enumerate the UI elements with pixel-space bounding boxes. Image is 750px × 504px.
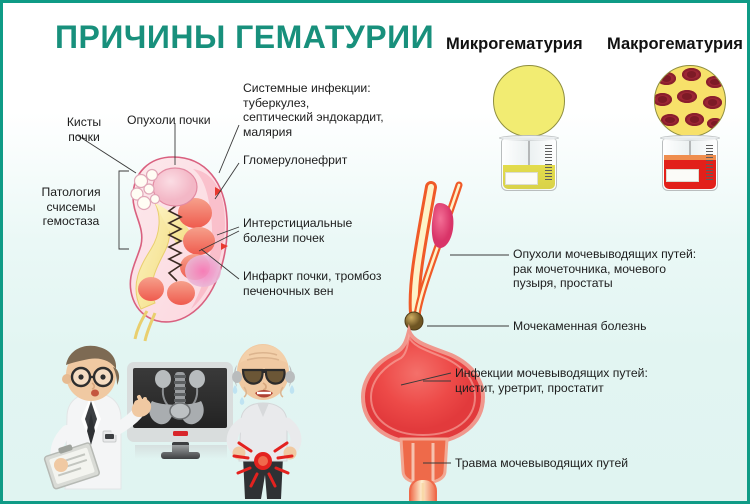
label-macrohematuria: Макрогематурия [607, 37, 743, 52]
urine-magnifier-bulb-micro [493, 65, 565, 137]
infographic-poster: ПРИЧИНЫ ГЕМАТУРИИ [0, 0, 750, 504]
beaker-scale-micro [545, 145, 552, 182]
label-urinary-tract-tumors: Опухоли мочевыводящих путей: рак мочеточ… [513, 247, 696, 291]
macrohematuria-sample [650, 65, 750, 200]
beaker-scale-macro [706, 145, 713, 182]
page-title: ПРИЧИНЫ ГЕМАТУРИИ [55, 19, 434, 56]
label-systemic-infections: Системные инфекции: туберкулез, септичес… [243, 81, 384, 139]
beaker-label-macro [666, 169, 699, 182]
microhematuria-sample [489, 65, 599, 200]
label-microhematuria: Микрогематурия [446, 37, 583, 52]
label-hemostasis-pathology: Патология счисемы гемостаза [25, 185, 117, 229]
label-kidney-cysts: Кисты почки [51, 115, 117, 144]
beaker-macro [662, 139, 718, 191]
label-interstitial-kidney-disease: Интерстициальные болезни почек [243, 216, 352, 245]
clinic-scene-illustration [29, 339, 334, 504]
label-urolithiasis: Мочекаменная болезнь [513, 319, 646, 334]
label-glomerulonephritis: Гломерулонефрит [243, 153, 347, 168]
label-urinary-tract-trauma: Травма мочевыводящих путей [455, 456, 628, 471]
label-urinary-tract-infections: Инфекции мочевыводящих путей: цистит, ур… [455, 366, 648, 395]
kidney-illustration [111, 153, 241, 333]
urine-magnifier-bulb-macro [654, 65, 726, 137]
label-kidney-tumors: Опухоли почки [127, 113, 211, 128]
urinary-tract-illustration [355, 181, 525, 501]
